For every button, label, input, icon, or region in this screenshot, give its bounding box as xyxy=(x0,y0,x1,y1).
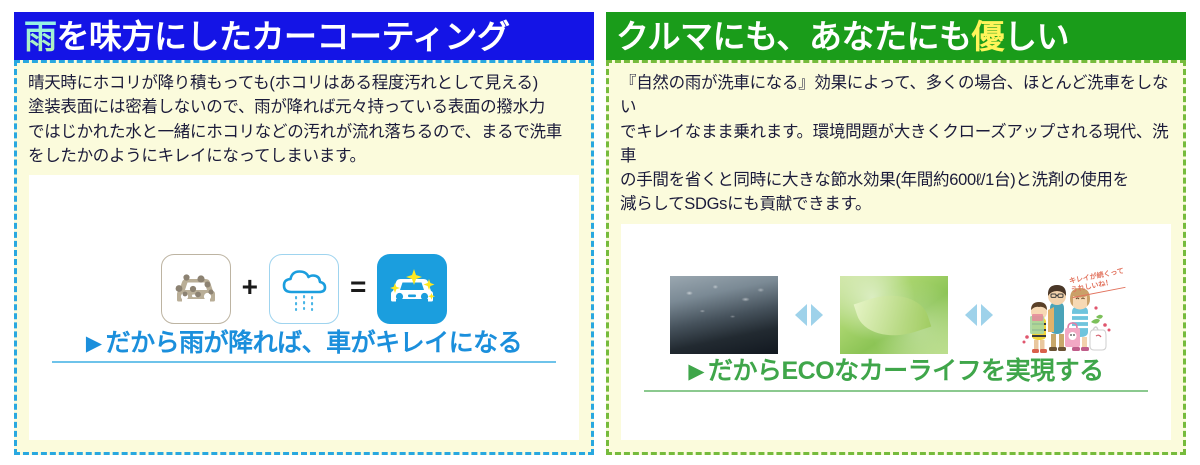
rain-on-surface-photo xyxy=(670,276,778,354)
right-tagline-text: だからECOなカーライフを実現する xyxy=(708,358,1104,386)
right-body-text: 『自然の雨が洗車になる』効果によって、多くの場合、ほとんど洗車をしない でキレイ… xyxy=(617,70,1175,217)
right-header-tail: しい xyxy=(1004,18,1069,55)
infographic-board: 雨を味方にしたカーコーティング 晴天時にホコリが降り積もっても(ホコリはある程度… xyxy=(0,0,1200,465)
family-illustration: キレイが続くって うれしいね！ xyxy=(1010,274,1122,356)
left-header-rest: を味方にしたカーコーティング xyxy=(57,18,510,55)
right-panel-body: 『自然の雨が洗車になる』効果によって、多くの場合、ほとんど洗車をしない でキレイ… xyxy=(606,60,1186,455)
left-header-highlight-char: 雨 xyxy=(24,18,57,55)
right-header-highlight-char: 優 xyxy=(972,18,1005,55)
clean-car-icon xyxy=(377,254,447,324)
left-tagline-text: だから雨が降れば、車がキレイになる xyxy=(106,330,523,358)
left-tagline-marker-icon: ▶ xyxy=(86,333,102,354)
photo-separator-arrows-icon-2 xyxy=(962,300,996,330)
right-body-line-3: の手間を省くと同時に大きな節水効果(年間約600ℓ/1台)と洗剤の使用を xyxy=(620,168,1173,192)
left-panel-body: 晴天時にホコリが降り積もっても(ホコリはある程度汚れとして見える) 塗装表面には… xyxy=(14,60,594,455)
left-body-line-1: 晴天時にホコリが降り積もっても(ホコリはある程度汚れとして見える) xyxy=(28,71,581,95)
right-body-line-2: でキレイなまま乗れます。環境問題が大きくクローズアップされる現代、洗車 xyxy=(620,120,1173,169)
left-body-line-2: 塗装表面には密着しないので、雨が降れば元々持っている表面の撥水力 xyxy=(28,95,581,119)
right-header-title: クルマにも、あなたにも優しい xyxy=(616,20,1069,53)
left-body-line-4: をしたかのようにキレイになってしまいます。 xyxy=(28,144,581,168)
plus-operator: + xyxy=(242,273,258,305)
left-body-text: 晴天時にホコリが降り積もっても(ホコリはある程度汚れとして見える) 塗装表面には… xyxy=(25,70,583,168)
green-leaf-photo xyxy=(840,276,948,354)
right-tagline-marker-icon: ▶ xyxy=(688,361,704,382)
right-body-line-1: 『自然の雨が洗車になる』効果によって、多くの場合、ほとんど洗車をしない xyxy=(620,71,1173,120)
left-tagline-rule xyxy=(52,361,556,363)
left-header-title: 雨を味方にしたカーコーティング xyxy=(24,20,510,53)
dirty-car-icon xyxy=(161,254,231,324)
panel-eco-car-life: クルマにも、あなたにも優しい 『自然の雨が洗車になる』効果によって、多くの場合、… xyxy=(606,12,1186,455)
right-tagline-rule xyxy=(644,390,1148,392)
left-tagline: ▶ だから雨が降れば、車がキレイになる xyxy=(33,330,575,362)
photo-separator-arrows-icon xyxy=(792,300,826,330)
left-panel-header: 雨を味方にしたカーコーティング xyxy=(14,12,594,60)
right-header-rest: クルマにも、あなたにも xyxy=(616,18,972,55)
left-illustration-card: + xyxy=(29,175,579,440)
rain-cloud-icon xyxy=(269,254,339,324)
equation-icon-row: + xyxy=(161,254,448,324)
right-panel-header: クルマにも、あなたにも優しい xyxy=(606,12,1186,60)
panel-rain-coating: 雨を味方にしたカーコーティング 晴天時にホコリが降り積もっても(ホコリはある程度… xyxy=(14,12,594,455)
eco-photo-row: キレイが続くって うれしいね！ xyxy=(670,274,1122,356)
left-body-line-3: ではじかれた水と一緒にホコリなどの汚れが流れ落ちるので、まるで洗車 xyxy=(28,120,581,144)
right-illustration-card: キレイが続くって うれしいね！ ▶ だからECOなカーライフを実現する xyxy=(621,224,1171,441)
equals-operator: = xyxy=(350,273,366,305)
right-tagline: ▶ だからECOなカーライフを実現する xyxy=(625,358,1167,390)
right-body-line-4: 減らしてSDGsにも貢献できます。 xyxy=(620,192,1173,216)
